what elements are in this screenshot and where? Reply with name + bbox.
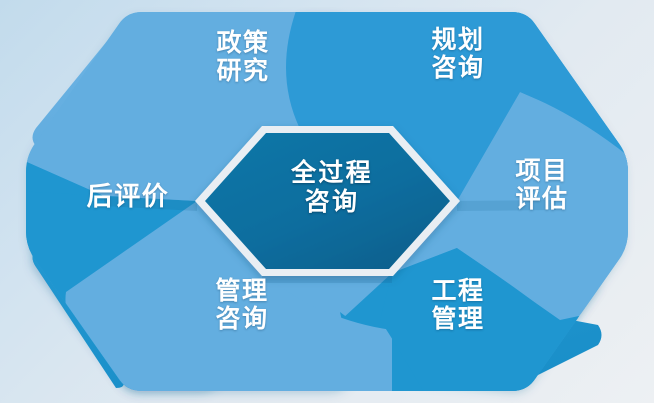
shadow-cross-right — [457, 200, 556, 211]
hexagon-wheel-graphic — [0, 0, 654, 403]
diagram-canvas: 政策 研究 规划 咨询 项目 评估 工程 管理 管理 咨询 后评价 全过程 咨询 — [0, 0, 654, 403]
